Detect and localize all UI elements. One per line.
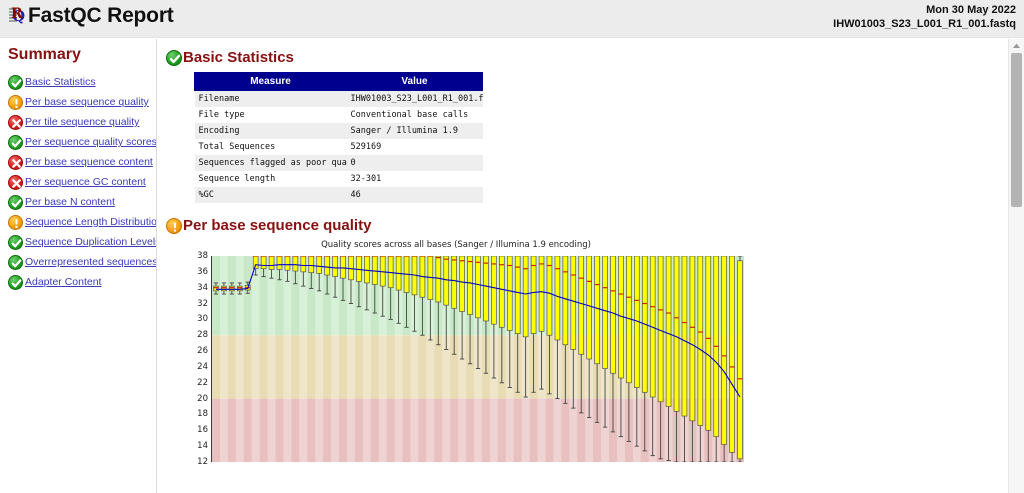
quartile-box xyxy=(444,256,449,305)
y-axis-tick-label: 34 xyxy=(197,283,208,293)
per-base-quality-title: Per base sequence quality xyxy=(183,217,371,234)
app-title-text: FastQC Report xyxy=(28,4,174,27)
quartile-box xyxy=(309,256,314,273)
sidebar-item-per-base-n-content[interactable]: Per base N content xyxy=(8,192,156,212)
quartile-box xyxy=(674,256,679,411)
quartile-box xyxy=(571,256,576,349)
status-pass-icon xyxy=(166,50,182,66)
cell-value: 529169 xyxy=(347,139,483,155)
cell-measure: File type xyxy=(195,107,347,123)
quartile-box xyxy=(579,256,584,354)
table-row: Sequence length32-301 xyxy=(195,171,483,187)
quartile-box xyxy=(285,256,290,270)
status-pass-icon xyxy=(8,75,23,90)
sidebar-item-label[interactable]: Per tile sequence quality xyxy=(25,116,139,128)
y-axis-tick-label: 14 xyxy=(197,441,208,451)
app-title: Q R FastQC Report xyxy=(8,4,174,28)
sidebar-list: Basic StatisticsPer base sequence qualit… xyxy=(0,72,156,292)
quartile-box xyxy=(603,256,608,369)
quartile-box xyxy=(666,256,671,407)
y-axis-tick-label: 16 xyxy=(197,425,208,435)
chart-title: Quality scores across all bases (Sanger … xyxy=(166,240,746,250)
quartile-box xyxy=(738,261,743,459)
cell-measure: %GC xyxy=(195,187,347,203)
status-pass-icon xyxy=(8,195,23,210)
quartile-box xyxy=(491,256,496,324)
status-fail-icon xyxy=(8,155,23,170)
y-axis-tick-label: 36 xyxy=(197,267,208,277)
status-fail-icon xyxy=(8,115,23,130)
quartile-box xyxy=(253,256,258,269)
status-warn-icon xyxy=(8,215,23,230)
status-warn-icon xyxy=(166,218,182,234)
quartile-box xyxy=(229,286,234,291)
fastqc-logo-icon: Q R xyxy=(8,4,30,26)
boxplot-svg xyxy=(212,256,744,462)
sidebar-item-label[interactable]: Per base sequence content xyxy=(25,156,153,168)
quartile-box xyxy=(507,256,512,330)
quartile-box xyxy=(547,256,552,335)
sidebar-item-sequence-duplication-levels[interactable]: Sequence Duplication Levels xyxy=(8,232,156,252)
quartile-box xyxy=(388,256,393,288)
cell-measure: Sequences flagged as poor quality xyxy=(195,155,347,171)
quartile-box xyxy=(325,256,330,275)
sidebar-item-label[interactable]: Per sequence quality scores xyxy=(25,136,157,148)
cell-measure: Filename xyxy=(195,91,347,108)
quartile-box xyxy=(341,256,346,278)
quartile-box xyxy=(563,256,568,345)
basic-statistics-title: Basic Statistics xyxy=(183,49,294,66)
quartile-box xyxy=(658,256,663,402)
sidebar-item-label[interactable]: Overrepresented sequences xyxy=(25,256,157,268)
column-stripe xyxy=(268,256,276,462)
sidebar-item-per-base-sequence-quality[interactable]: Per base sequence quality xyxy=(8,92,156,112)
sidebar: Summary Basic StatisticsPer base sequenc… xyxy=(0,39,157,493)
sidebar-item-label[interactable]: Adapter Content xyxy=(25,276,101,288)
svg-text:R: R xyxy=(11,6,23,22)
sidebar-item-label[interactable]: Per sequence GC content xyxy=(25,176,146,188)
column-stripe xyxy=(299,256,307,462)
quartile-box xyxy=(221,286,226,291)
sidebar-item-sequence-length-distribution[interactable]: Sequence Length Distribution xyxy=(8,212,156,232)
page-header: Q R FastQC Report Mon 30 May 2022 IHW010… xyxy=(0,0,1024,38)
quartile-box xyxy=(356,256,361,281)
y-axis-tick-label: 20 xyxy=(197,394,208,404)
quartile-box xyxy=(364,256,369,283)
cell-measure: Encoding xyxy=(195,123,347,139)
sidebar-item-per-tile-sequence-quality[interactable]: Per tile sequence quality xyxy=(8,112,156,132)
sidebar-item-per-base-sequence-content[interactable]: Per base sequence content xyxy=(8,152,156,172)
y-axis-tick-label: 28 xyxy=(197,330,208,340)
sidebar-item-basic-statistics[interactable]: Basic Statistics xyxy=(8,72,156,92)
report-filename: IHW01003_S23_L001_R1_001.fastq xyxy=(833,17,1016,31)
quartile-box xyxy=(476,256,481,318)
cell-measure: Total Sequences xyxy=(195,139,347,155)
quartile-box xyxy=(301,256,306,272)
status-fail-icon xyxy=(8,175,23,190)
quartile-box xyxy=(682,256,687,416)
table-row: Sequences flagged as poor quality0 xyxy=(195,155,483,171)
sidebar-item-label[interactable]: Basic Statistics xyxy=(25,76,96,88)
sidebar-item-overrepresented-sequences[interactable]: Overrepresented sequences xyxy=(8,252,156,272)
quartile-box xyxy=(499,256,504,327)
status-pass-icon xyxy=(8,255,23,270)
quartile-box xyxy=(531,256,536,334)
quartile-box xyxy=(460,256,465,311)
sidebar-item-per-sequence-quality-scores[interactable]: Per sequence quality scores xyxy=(8,132,156,152)
quartile-box xyxy=(698,256,703,426)
basic-statistics-table: Measure Value FilenameIHW01003_S23_L001_… xyxy=(194,72,483,203)
quartile-box xyxy=(611,256,616,373)
status-pass-icon xyxy=(8,275,23,290)
quartile-box xyxy=(380,256,385,286)
quartile-box xyxy=(730,256,735,452)
table-body: FilenameIHW01003_S23_L001_R1_001.fastqFi… xyxy=(195,91,483,204)
fastqc-report-page: Q R FastQC Report Mon 30 May 2022 IHW010… xyxy=(0,0,1024,493)
y-axis-tick-label: 38 xyxy=(197,251,208,261)
column-stripe xyxy=(283,256,291,462)
quartile-box xyxy=(452,256,457,308)
quartile-box xyxy=(706,256,711,430)
quartile-box xyxy=(372,256,377,285)
y-axis-tick-label: 26 xyxy=(197,346,208,356)
cell-value: Conventional base calls xyxy=(347,107,483,123)
table-row: Total Sequences529169 xyxy=(195,139,483,155)
per-base-quality-header: Per base sequence quality xyxy=(166,217,1008,234)
quartile-box xyxy=(468,256,473,315)
status-pass-icon xyxy=(8,135,23,150)
quartile-box xyxy=(587,256,592,359)
scrollbar-thumb[interactable] xyxy=(1011,53,1022,207)
quartile-box xyxy=(539,256,544,331)
quartile-box xyxy=(333,256,338,277)
sidebar-item-label[interactable]: Sequence Duplication Levels xyxy=(25,236,157,248)
y-axis-tick-label: 12 xyxy=(197,457,208,467)
table-row: File typeConventional base calls xyxy=(195,107,483,123)
quartile-box xyxy=(214,286,219,291)
sidebar-item-per-sequence-gc-content[interactable]: Per sequence GC content xyxy=(8,172,156,192)
table-row: FilenameIHW01003_S23_L001_R1_001.fastq xyxy=(195,91,483,108)
per-base-quality-chart: Quality scores across all bases (Sanger … xyxy=(166,240,746,460)
column-stripe xyxy=(252,256,260,462)
cell-value: Sanger / Illumina 1.9 xyxy=(347,123,483,139)
y-axis-tick-label: 30 xyxy=(197,314,208,324)
table-header-row: Measure Value xyxy=(195,73,483,91)
cell-value: 46 xyxy=(347,187,483,203)
status-pass-icon xyxy=(8,235,23,250)
table-row: %GC46 xyxy=(195,187,483,203)
quartile-box xyxy=(269,256,274,269)
sidebar-item-label[interactable]: Sequence Length Distribution xyxy=(25,216,157,228)
sidebar-item-label[interactable]: Per base N content xyxy=(25,196,115,208)
y-axis-tick-label: 24 xyxy=(197,362,208,372)
chart-plot-area xyxy=(212,256,744,462)
y-axis-tick-label: 22 xyxy=(197,378,208,388)
sidebar-item-label[interactable]: Per base sequence quality xyxy=(25,96,149,108)
quartile-box xyxy=(722,256,727,445)
quartile-box xyxy=(237,286,242,291)
table-row: EncodingSanger / Illumina 1.9 xyxy=(195,123,483,139)
column-header-measure: Measure xyxy=(195,73,347,91)
cell-measure: Sequence length xyxy=(195,171,347,187)
sidebar-title: Summary xyxy=(8,46,156,64)
quartile-box xyxy=(293,256,298,271)
cell-value: 32-301 xyxy=(347,171,483,187)
basic-statistics-header: Basic Statistics xyxy=(166,49,1008,66)
status-warn-icon xyxy=(8,95,23,110)
quartile-box xyxy=(348,256,353,280)
quartile-box xyxy=(277,256,282,269)
vertical-scrollbar[interactable] xyxy=(1008,39,1024,493)
main-content: Basic Statistics Measure Value FilenameI… xyxy=(158,39,1008,493)
column-header-value: Value xyxy=(347,73,483,91)
quartile-box xyxy=(595,256,600,364)
sidebar-item-adapter-content[interactable]: Adapter Content xyxy=(8,272,156,292)
cell-value: 0 xyxy=(347,155,483,171)
quartile-box xyxy=(690,256,695,421)
quartile-box xyxy=(261,256,266,269)
y-axis-tick-label: 18 xyxy=(197,409,208,419)
report-date: Mon 30 May 2022 xyxy=(833,3,1016,17)
cell-value: IHW01003_S23_L001_R1_001.fastq xyxy=(347,91,483,108)
quartile-box xyxy=(483,256,488,321)
quartile-box xyxy=(317,256,322,273)
y-axis-tick-label: 32 xyxy=(197,299,208,309)
scroll-up-arrow-icon[interactable] xyxy=(1009,39,1024,51)
header-meta: Mon 30 May 2022 IHW01003_S23_L001_R1_001… xyxy=(833,3,1016,31)
